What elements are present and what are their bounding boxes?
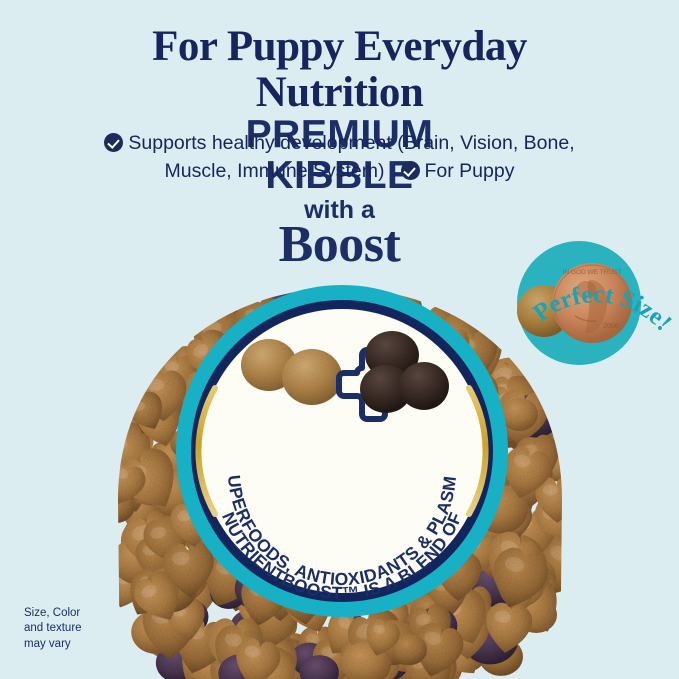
benefit-text-3: For Puppy [425,160,515,182]
disclaimer-text: Size, Color and texture may vary [24,606,144,652]
perfect-size-callout: IN GOD WE TRUST 2006 Perfect Size! [487,206,679,371]
coin-year-text: 2006 [603,323,619,330]
product-feature-image: For Puppy Everyday Nutrition Supports he… [0,0,679,679]
benefit-row-1: Supports healthy development (Brain, Vis… [0,130,679,158]
check-circle-icon [401,161,420,180]
disclaimer-line-3: may vary [24,637,144,652]
headline-line-2: Nutrition [0,70,679,116]
benefit-bullets: Supports healthy development (Brain, Vis… [0,130,679,185]
premium-kibble-badge: NUTRIENTBOOST™ IS A BLEND OF SUPERFOODS,… [174,283,510,619]
benefit-text-2: Muscle, Immune System) [165,160,385,182]
benefit-row-2: Muscle, Immune System)For Puppy [0,158,679,186]
coin-motto-text: IN GOD WE TRUST [563,269,622,276]
benefit-text-1: Supports healthy development (Brain, Vis… [128,132,574,154]
headline-line-1: For Puppy Everyday [152,23,527,70]
disclaimer-line-2: and texture [24,621,144,636]
disclaimer-line-1: Size, Color [24,606,144,621]
check-circle-icon [104,133,123,152]
page-title: For Puppy Everyday Nutrition [0,24,679,115]
